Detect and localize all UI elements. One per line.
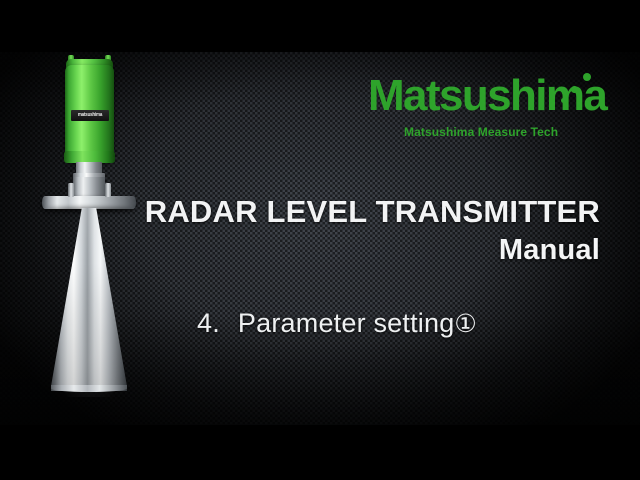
flange-bolt-left bbox=[68, 183, 74, 197]
logo-wordmark: Matsushima bbox=[368, 74, 606, 118]
slide-subtitle: Manual bbox=[0, 235, 600, 265]
section-heading: 4.Parameter setting① bbox=[197, 308, 477, 339]
flange-bolt-right bbox=[105, 183, 111, 197]
logo-wordmark-text: Matsushima bbox=[368, 71, 606, 120]
video-slide: matsushima Matsushima Matsushima Measure… bbox=[0, 0, 640, 480]
section-label: Parameter setting bbox=[238, 308, 455, 338]
title-block: RADAR LEVEL TRANSMITTER Manual bbox=[0, 196, 600, 265]
letterbox-top bbox=[0, 0, 640, 52]
transmitter-body-upper bbox=[73, 177, 105, 197]
logo-dot-small-icon bbox=[561, 98, 566, 103]
section-marker: ① bbox=[454, 310, 477, 338]
logo-tagline: Matsushima Measure Tech bbox=[404, 125, 606, 139]
section-number: 4. bbox=[197, 308, 220, 338]
antenna-aperture-lip bbox=[51, 385, 127, 392]
slide-title: RADAR LEVEL TRANSMITTER bbox=[0, 196, 600, 229]
logo-dot-medium-icon bbox=[571, 86, 578, 93]
logo-dot-large-icon bbox=[583, 73, 591, 81]
housing-nameplate-text: matsushima bbox=[78, 113, 102, 118]
matsushima-logo: Matsushima Matsushima Measure Tech bbox=[368, 74, 606, 139]
letterbox-bottom bbox=[0, 425, 640, 480]
housing-nameplate: matsushima bbox=[71, 110, 109, 121]
